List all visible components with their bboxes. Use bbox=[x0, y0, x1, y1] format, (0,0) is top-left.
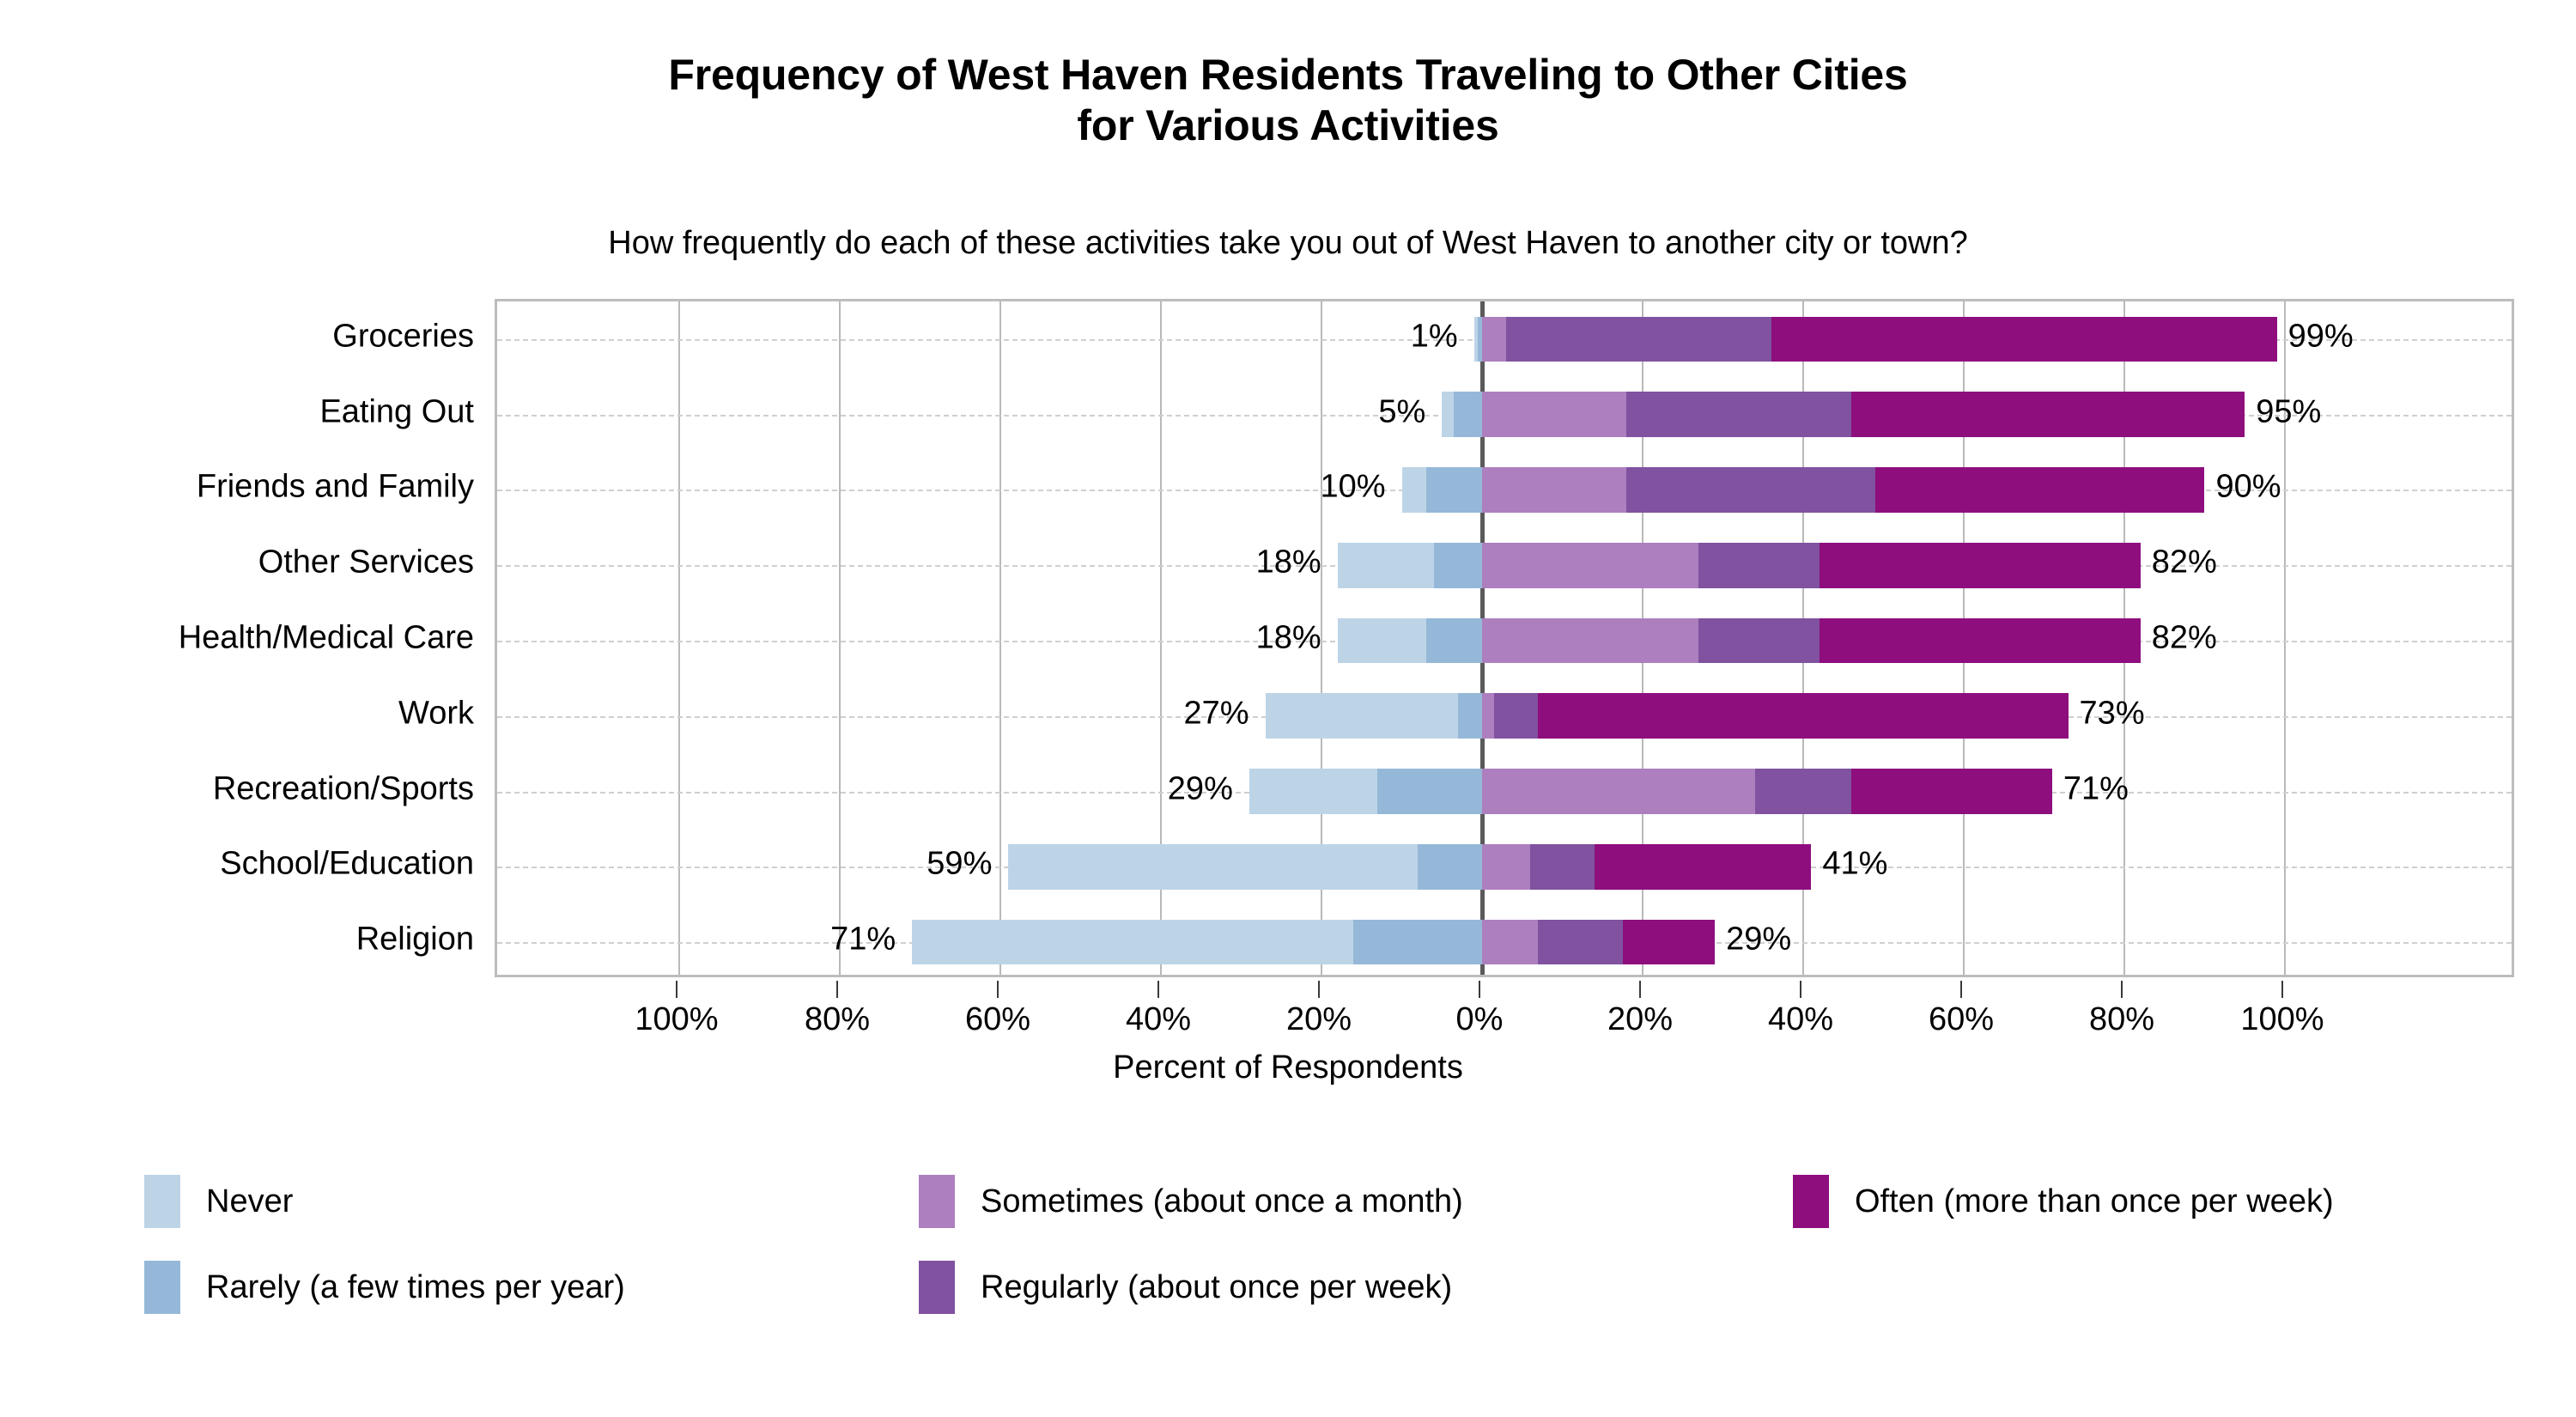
legend-swatch bbox=[1793, 1175, 1829, 1228]
bar-value-label-right: 29% bbox=[1726, 921, 1791, 958]
bar-segment[interactable] bbox=[1482, 467, 1626, 513]
x-axis-tick bbox=[1479, 981, 1480, 998]
x-axis-tick bbox=[1800, 981, 1801, 998]
bar-value-label-left: 1% bbox=[1411, 318, 1458, 355]
legend-label: Never bbox=[206, 1183, 293, 1220]
bar-row[interactable] bbox=[497, 317, 2512, 362]
x-axis-tick bbox=[997, 981, 999, 998]
bar-segment[interactable] bbox=[1538, 920, 1622, 965]
x-axis-tick-label: 80% bbox=[2089, 1001, 2154, 1038]
bar-segment[interactable] bbox=[1755, 769, 1851, 814]
bar-segment[interactable] bbox=[1353, 920, 1482, 965]
bar-segment[interactable] bbox=[1266, 693, 1458, 739]
y-axis-category-label: School/Education bbox=[220, 846, 474, 883]
bar-segment[interactable] bbox=[1494, 693, 1538, 739]
y-axis-category-label: Recreation/Sports bbox=[213, 770, 474, 807]
legend-item[interactable]: Often (more than once per week) bbox=[1793, 1175, 2334, 1228]
y-axis-category-label: Religion bbox=[356, 921, 474, 958]
y-axis-category-label: Health/Medical Care bbox=[179, 620, 474, 657]
bar-row[interactable] bbox=[497, 392, 2512, 437]
bar-value-label-left: 18% bbox=[1256, 620, 1321, 657]
legend-swatch bbox=[919, 1261, 955, 1314]
x-axis-tick bbox=[676, 981, 677, 998]
bar-segment[interactable] bbox=[1008, 844, 1418, 890]
legend-item[interactable]: Never bbox=[144, 1175, 293, 1228]
bar-value-label-left: 71% bbox=[830, 921, 896, 958]
x-axis-tick bbox=[1318, 981, 1320, 998]
bar-segment[interactable] bbox=[912, 920, 1353, 965]
legend-label: Regularly (about once per week) bbox=[981, 1269, 1452, 1306]
bar-segment[interactable] bbox=[1506, 317, 1771, 362]
bar-value-label-right: 71% bbox=[2063, 770, 2129, 807]
x-axis-tick-label: 20% bbox=[1286, 1001, 1352, 1038]
legend-item[interactable]: Regularly (about once per week) bbox=[919, 1261, 1452, 1314]
bar-segment[interactable] bbox=[1402, 467, 1426, 513]
bar-row[interactable] bbox=[497, 844, 2512, 890]
bar-value-label-left: 59% bbox=[927, 846, 992, 883]
bar-segment[interactable] bbox=[1626, 392, 1851, 437]
y-axis-category-label: Work bbox=[398, 695, 474, 732]
chart-subtitle: How frequently do each of these activiti… bbox=[0, 225, 2576, 262]
bar-row[interactable] bbox=[497, 769, 2512, 814]
y-axis-category-label: Other Services bbox=[258, 544, 474, 581]
bar-value-label-right: 73% bbox=[2080, 695, 2145, 732]
bar-segment[interactable] bbox=[1377, 769, 1482, 814]
legend-label: Often (more than once per week) bbox=[1855, 1183, 2334, 1220]
bar-segment[interactable] bbox=[1442, 392, 1454, 437]
x-axis-tick-label: 100% bbox=[635, 1001, 718, 1038]
legend-label: Rarely (a few times per year) bbox=[206, 1269, 625, 1306]
bar-segment[interactable] bbox=[1538, 693, 2068, 739]
bar-segment[interactable] bbox=[1820, 618, 2141, 664]
bar-value-label-left: 10% bbox=[1320, 469, 1385, 506]
bar-value-label-right: 99% bbox=[2288, 318, 2354, 355]
bar-segment[interactable] bbox=[1426, 467, 1482, 513]
bar-segment[interactable] bbox=[1454, 392, 1482, 437]
bar-segment[interactable] bbox=[1482, 844, 1530, 890]
bar-segment[interactable] bbox=[1482, 317, 1506, 362]
bar-value-label-left: 29% bbox=[1168, 770, 1233, 807]
x-axis-tick-label: 40% bbox=[1768, 1001, 1833, 1038]
chart-title-line-2: for Various Activities bbox=[0, 100, 2576, 151]
x-axis-tick bbox=[2281, 981, 2283, 998]
bar-segment[interactable] bbox=[1338, 543, 1434, 588]
bar-value-label-left: 18% bbox=[1256, 544, 1321, 581]
bar-segment[interactable] bbox=[1249, 769, 1378, 814]
bar-segment[interactable] bbox=[1698, 618, 1819, 664]
x-axis-tick-label: 0% bbox=[1456, 1001, 1504, 1038]
x-axis-tick-label: 100% bbox=[2240, 1001, 2324, 1038]
bar-segment[interactable] bbox=[1623, 920, 1716, 965]
x-axis-tick-label: 20% bbox=[1607, 1001, 1673, 1038]
bar-segment[interactable] bbox=[1851, 769, 2052, 814]
bar-value-label-right: 95% bbox=[2256, 393, 2321, 430]
bar-segment[interactable] bbox=[1458, 693, 1482, 739]
bar-segment[interactable] bbox=[1482, 618, 1698, 664]
bar-row[interactable] bbox=[497, 467, 2512, 513]
bar-row[interactable] bbox=[497, 693, 2512, 739]
x-axis-title: Percent of Respondents bbox=[0, 1049, 2576, 1086]
bar-segment[interactable] bbox=[1595, 844, 1811, 890]
x-axis-tick bbox=[836, 981, 838, 998]
bar-segment[interactable] bbox=[1482, 920, 1538, 965]
chart-title: Frequency of West Haven Residents Travel… bbox=[0, 50, 2576, 150]
y-axis-category-label: Eating Out bbox=[319, 393, 474, 430]
x-axis-tick bbox=[1157, 981, 1159, 998]
bar-segment[interactable] bbox=[1418, 844, 1482, 890]
bar-segment[interactable] bbox=[1530, 844, 1595, 890]
bar-segment[interactable] bbox=[1851, 392, 2245, 437]
legend-swatch bbox=[144, 1261, 180, 1314]
bar-value-label-right: 82% bbox=[2152, 544, 2217, 581]
bar-segment[interactable] bbox=[1474, 317, 1479, 362]
bar-value-label-left: 27% bbox=[1184, 695, 1249, 732]
bar-segment[interactable] bbox=[1482, 769, 1755, 814]
x-axis-tick-label: 40% bbox=[1126, 1001, 1191, 1038]
bar-segment[interactable] bbox=[1482, 543, 1698, 588]
bar-segment[interactable] bbox=[1482, 392, 1626, 437]
bar-segment[interactable] bbox=[1626, 467, 1875, 513]
legend-item[interactable]: Rarely (a few times per year) bbox=[144, 1261, 625, 1314]
legend-swatch bbox=[919, 1175, 955, 1228]
bar-segment[interactable] bbox=[1338, 618, 1426, 664]
x-axis-tick-label: 60% bbox=[965, 1001, 1030, 1038]
bar-segment[interactable] bbox=[1820, 543, 2141, 588]
x-axis-tick bbox=[1960, 981, 1962, 998]
bar-segment[interactable] bbox=[1426, 618, 1482, 664]
chart-legend: NeverRarely (a few times per year)Someti… bbox=[0, 1175, 2576, 1364]
bar-segment[interactable] bbox=[1482, 693, 1494, 739]
chart-title-line-1: Frequency of West Haven Residents Travel… bbox=[0, 50, 2576, 100]
x-axis-tick bbox=[2121, 981, 2123, 998]
bar-value-label-right: 82% bbox=[2152, 620, 2217, 657]
x-axis-tick-label: 80% bbox=[805, 1001, 870, 1038]
bar-segment[interactable] bbox=[1698, 543, 1819, 588]
y-axis-category-label: Friends and Family bbox=[197, 469, 474, 506]
legend-swatch bbox=[144, 1175, 180, 1228]
legend-label: Sometimes (about once a month) bbox=[981, 1183, 1463, 1220]
bar-segment[interactable] bbox=[1875, 467, 2204, 513]
x-axis-tick-label: 60% bbox=[1929, 1001, 1994, 1038]
bar-row[interactable] bbox=[497, 920, 2512, 965]
bar-value-label-right: 90% bbox=[2216, 469, 2281, 506]
bar-segment[interactable] bbox=[1434, 543, 1482, 588]
y-axis-category-label: Groceries bbox=[332, 318, 474, 355]
bar-value-label-right: 41% bbox=[1822, 846, 1887, 883]
legend-item[interactable]: Sometimes (about once a month) bbox=[919, 1175, 1463, 1228]
bar-segment[interactable] bbox=[1771, 317, 2277, 362]
bar-value-label-left: 5% bbox=[1378, 393, 1425, 430]
x-axis-tick bbox=[1639, 981, 1641, 998]
